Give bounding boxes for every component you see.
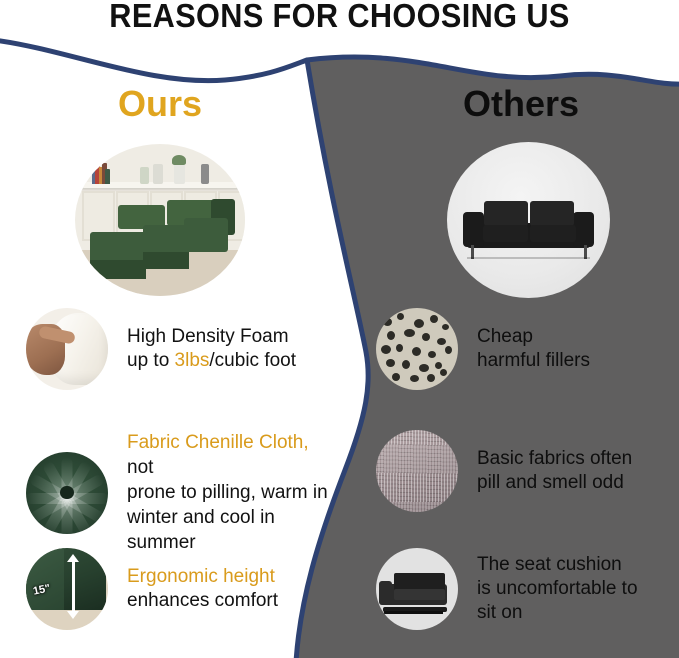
feature-text-ours-3-accent: Ergonomic height: [127, 566, 275, 587]
height-arrow-icon: [72, 561, 75, 612]
feature-row-ours-1: High Density Foam up to 3lbs/cubic foot: [26, 308, 296, 390]
feature-text-ours-1: High Density Foam up to 3lbs/cubic foot: [127, 325, 296, 373]
hero-image-others: [447, 142, 610, 298]
basic-fabric-weave-icon: [376, 430, 458, 512]
hero-image-ours: [75, 144, 245, 296]
feature-row-others-2: Basic fabrics often pill and smell odd: [376, 430, 632, 512]
feature-text-ours-3: Ergonomic height enhances comfort: [127, 565, 278, 613]
feature-row-others-3: The seat cushion is uncomfortable to sit…: [376, 548, 638, 630]
feature-row-ours-3: 15" Ergonomic height enhances comfort: [26, 548, 278, 630]
black-sofa-studio-art: [447, 142, 610, 298]
cheap-filler-foam-icon: [376, 308, 458, 390]
feature-text-others-3: The seat cushion is uncomfortable to sit…: [477, 553, 638, 625]
comparison-infographic: REASONS FOR CHOOSING US Ours: [0, 0, 679, 658]
feature-text-others-2: Basic fabrics often pill and smell odd: [477, 447, 632, 495]
feature-text-ours-1-accent: 3lbs: [175, 350, 210, 371]
feature-text-others-1: Cheap harmful fillers: [477, 325, 590, 373]
feature-text-ours-3-tail: enhances comfort: [127, 590, 278, 611]
column-heading-others: Others: [463, 86, 579, 122]
column-ours: Ours: [0, 0, 330, 658]
feature-row-ours-2: Fabric Chenille Cloth, not prone to pill…: [26, 430, 330, 555]
foam-sheet-icon: [26, 308, 108, 390]
feature-text-ours-1-tail: /cubic foot: [209, 350, 296, 371]
column-heading-ours: Ours: [118, 86, 202, 122]
chenille-fabric-icon: [26, 452, 108, 534]
cushion-height-icon: 15": [26, 548, 108, 630]
column-others: Others: [330, 0, 679, 658]
uncomfortable-sofa-icon: [376, 548, 458, 630]
feature-text-ours-2: Fabric Chenille Cloth, not prone to pill…: [127, 430, 330, 555]
feature-text-ours-2-accent: Fabric Chenille Cloth,: [127, 432, 309, 453]
green-sofa-room-art: [75, 144, 245, 296]
feature-row-others-1: Cheap harmful fillers: [376, 308, 590, 390]
feature-text-ours-2-tail: not prone to pilling, warm in winter and…: [127, 457, 328, 553]
